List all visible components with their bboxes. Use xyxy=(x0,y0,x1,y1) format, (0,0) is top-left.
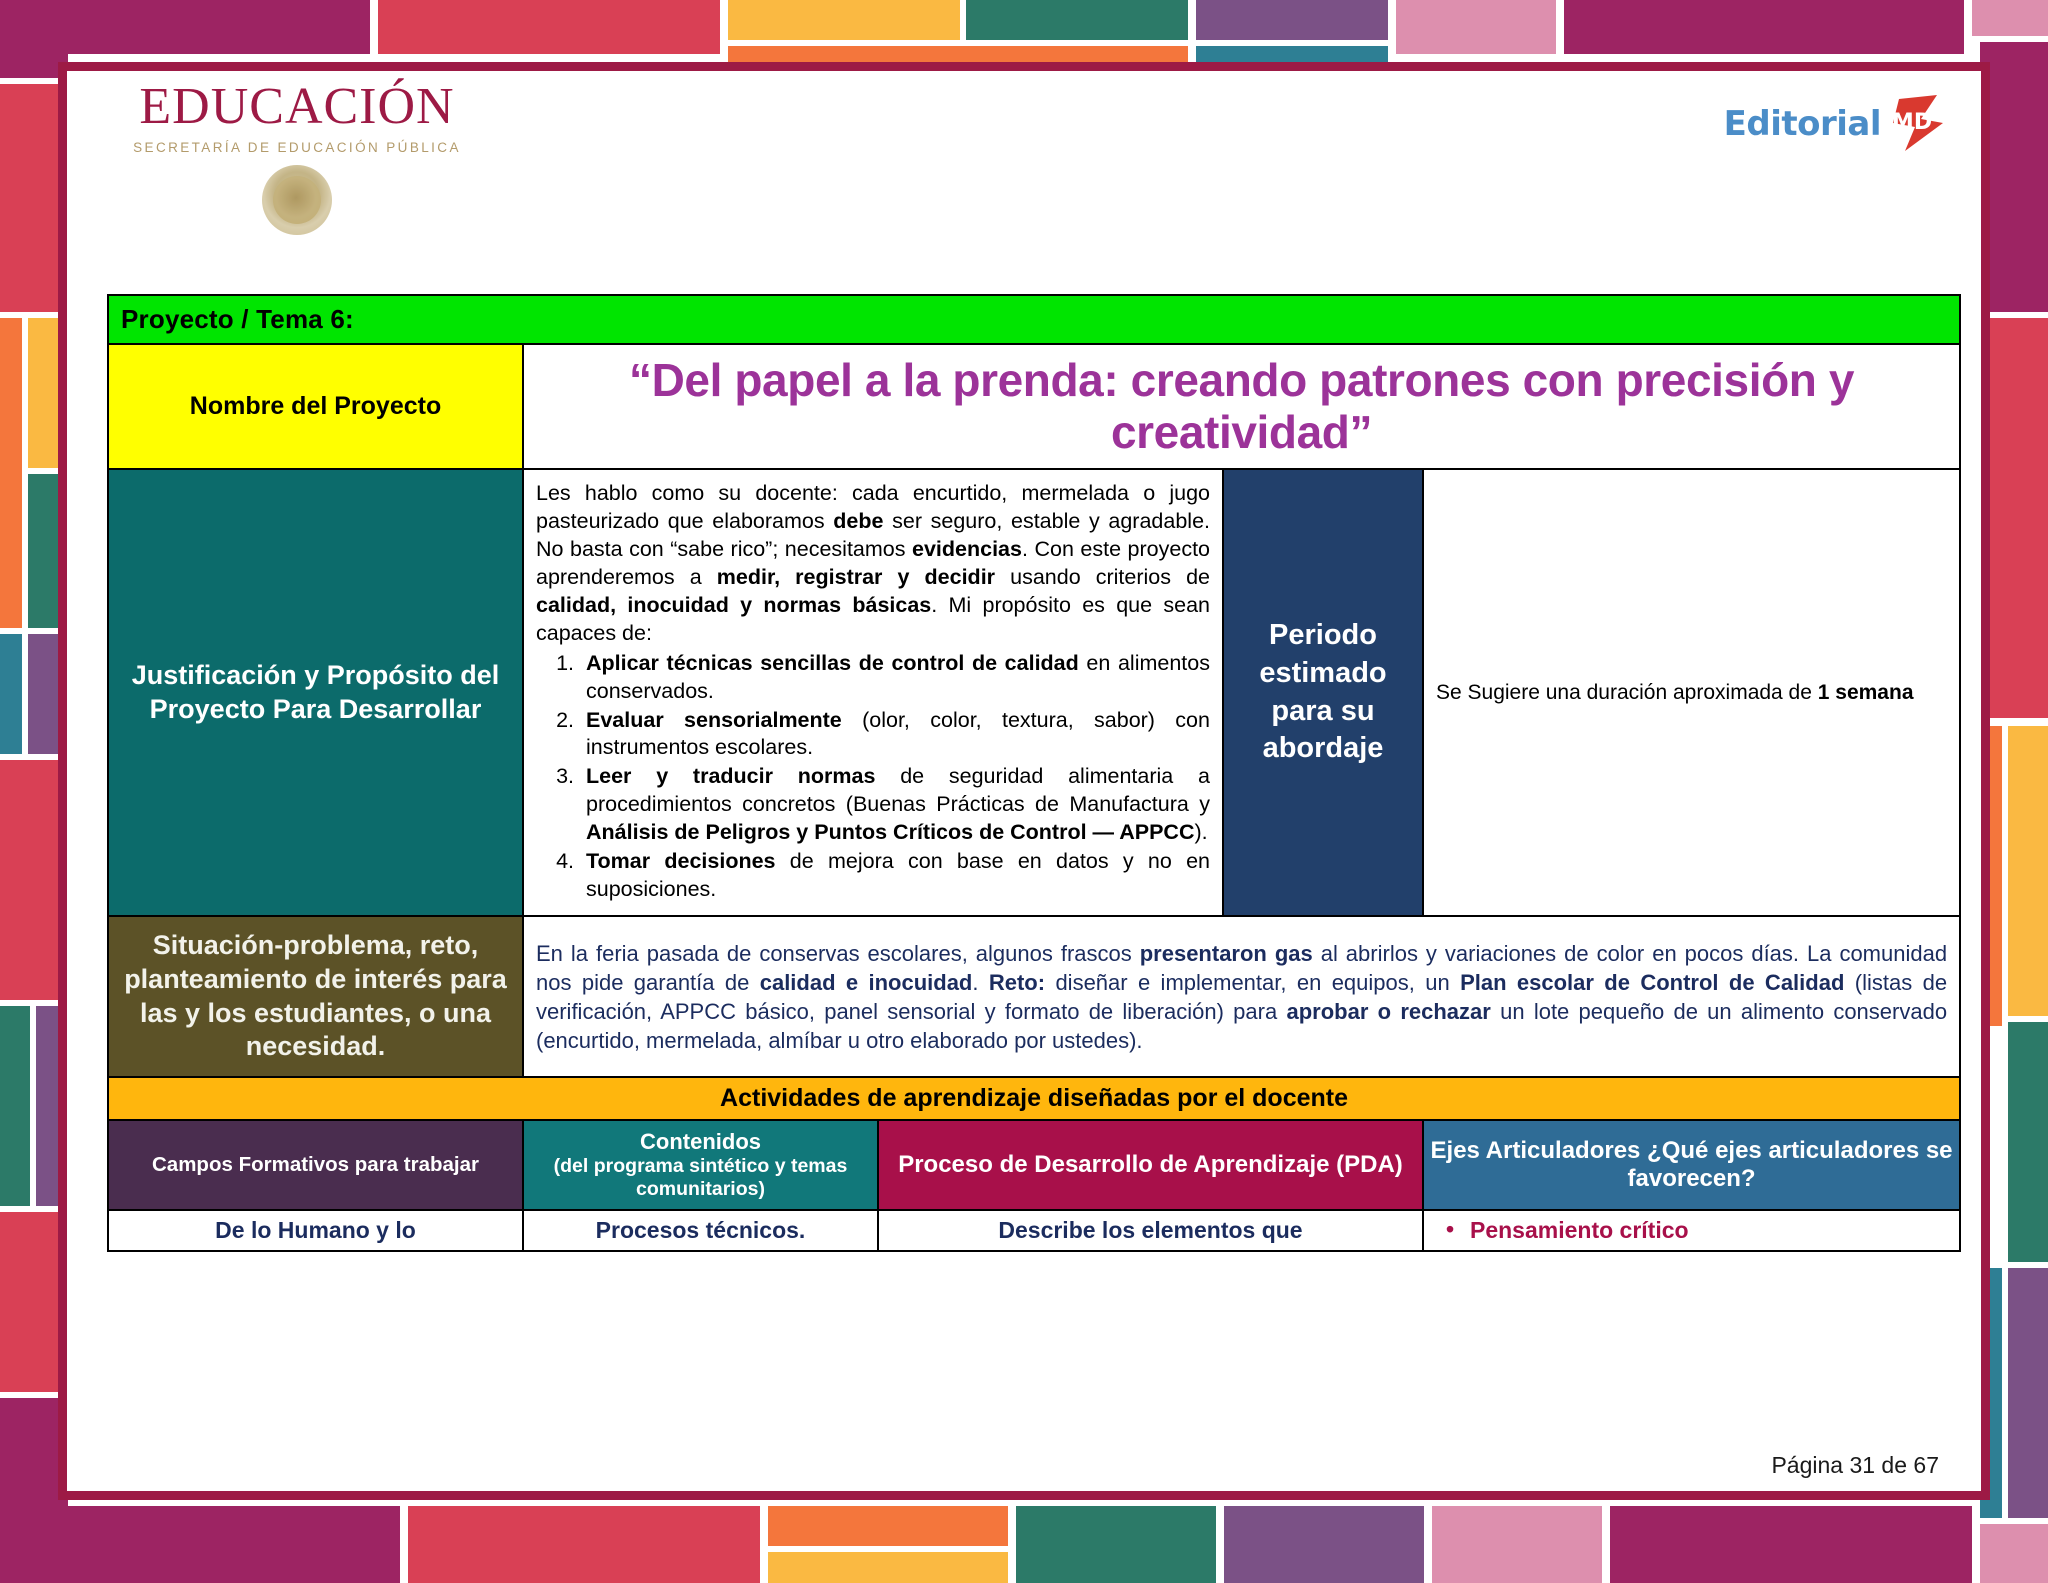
mosaic-block xyxy=(408,1506,760,1583)
list-item: Aplicar técnicas sencillas de control de… xyxy=(580,650,1210,706)
activities-bar: Actividades de aprendizaje diseñadas por… xyxy=(108,1077,1960,1120)
column-header-pda: Proceso de Desarrollo de Aprendizaje (PD… xyxy=(878,1120,1423,1210)
mosaic-block xyxy=(0,0,370,54)
mosaic-block xyxy=(768,1506,1008,1546)
column-header-ejes: Ejes Articuladores ¿Qué ejes articulador… xyxy=(1423,1120,1960,1210)
table-row-justification: Justificación y Propósito del Proyecto P… xyxy=(108,469,1960,916)
mosaic-block xyxy=(1224,1506,1424,1583)
mosaic-block xyxy=(728,0,960,40)
table-row-project-header: Proyecto / Tema 6: xyxy=(108,295,1960,344)
mosaic-block xyxy=(2008,726,2048,1016)
mosaic-block xyxy=(2008,1022,2048,1262)
mosaic-block xyxy=(1972,0,2048,36)
column-header-campos: Campos Formativos para trabajar xyxy=(108,1120,523,1210)
cell-eje-articulador: Pensamiento crítico xyxy=(1423,1210,1960,1251)
cell-campo-formativo: De lo Humano y lo xyxy=(108,1210,523,1251)
mosaic-block xyxy=(0,318,22,628)
mosaic-block xyxy=(1564,0,1964,54)
svg-text:MD: MD xyxy=(1892,110,1932,135)
situation-label: Situación-problema, reto, planteamiento … xyxy=(108,916,523,1077)
editorial-md-wordmark: Editorial xyxy=(1724,104,1881,144)
sep-logo-subtitle: SECRETARÍA DE EDUCACIÓN PÚBLICA xyxy=(87,140,507,155)
project-table: Proyecto / Tema 6: Nombre del Proyecto “… xyxy=(107,294,1961,1252)
justification-content: Les hablo como su docente: cada encurtid… xyxy=(523,469,1223,916)
list-item: Evaluar sensorialmente (olor, color, tex… xyxy=(580,707,1210,763)
table-row-activities-bar: Actividades de aprendizaje diseñadas por… xyxy=(108,1077,1960,1120)
justification-list: Aplicar técnicas sencillas de control de… xyxy=(580,650,1210,904)
mosaic-block xyxy=(1980,318,2048,718)
editorial-md-logo: Editorial MD xyxy=(1724,93,1947,155)
mosaic-block xyxy=(0,1506,400,1583)
mosaic-block xyxy=(768,1552,1008,1583)
justification-label: Justificación y Propósito del Proyecto P… xyxy=(108,469,523,916)
sep-logo-wordmark: EDUCACIÓN xyxy=(87,81,507,133)
table-row: De lo Humano y lo Procesos técnicos. Des… xyxy=(108,1210,1960,1251)
project-title: “Del papel a la prenda: creando patrones… xyxy=(523,344,1960,469)
mosaic-block xyxy=(1610,1506,1972,1583)
mosaic-block xyxy=(378,0,720,54)
page-sheet: EDUCACIÓN SECRETARÍA DE EDUCACIÓN PÚBLIC… xyxy=(58,62,1990,1500)
project-header-cell: Proyecto / Tema 6: xyxy=(108,295,1960,344)
mosaic-block xyxy=(0,634,22,754)
cell-contenido: Procesos técnicos. xyxy=(523,1210,878,1251)
mosaic-block xyxy=(1016,1506,1216,1583)
column-header-contenidos-subtitle: (del programa sintético y temas comunita… xyxy=(530,1155,871,1201)
mosaic-block xyxy=(1196,0,1388,40)
column-header-contenidos: Contenidos (del programa sintético y tem… xyxy=(523,1120,878,1210)
cell-pda: Describe los elementos que xyxy=(878,1210,1423,1251)
mosaic-block xyxy=(2008,1268,2048,1518)
mosaic-block xyxy=(1980,1524,2048,1583)
page-number: Página 31 de 67 xyxy=(1771,1452,1939,1479)
table-row-situation: Situación-problema, reto, planteamiento … xyxy=(108,916,1960,1077)
period-label: Periodo estimado para su abordaje xyxy=(1223,469,1423,916)
period-value: Se Sugiere una duración aproximada de 1 … xyxy=(1423,469,1960,916)
list-item: Leer y traducir normas de seguridad alim… xyxy=(580,763,1210,847)
list-item: Tomar decisiones de mejora con base en d… xyxy=(580,848,1210,904)
mosaic-block xyxy=(966,0,1188,40)
page-header: EDUCACIÓN SECRETARÍA DE EDUCACIÓN PÚBLIC… xyxy=(67,71,1981,271)
mosaic-block xyxy=(0,1006,30,1206)
mosaic-block xyxy=(1396,0,1556,54)
mexican-coat-of-arms-icon xyxy=(262,165,332,235)
table-row-column-headers: Campos Formativos para trabajar Contenid… xyxy=(108,1120,1960,1210)
mosaic-block xyxy=(1980,42,2048,312)
md-play-mark-icon: MD xyxy=(1885,93,1947,155)
mosaic-block xyxy=(1432,1506,1602,1583)
justification-intro: Les hablo como su docente: cada encurtid… xyxy=(536,480,1210,648)
sep-logo: EDUCACIÓN SECRETARÍA DE EDUCACIÓN PÚBLIC… xyxy=(87,81,507,235)
column-header-contenidos-title: Contenidos xyxy=(640,1129,761,1154)
table-row-project-name: Nombre del Proyecto “Del papel a la pren… xyxy=(108,344,1960,469)
situation-text: En la feria pasada de conservas escolare… xyxy=(523,916,1960,1077)
project-name-label: Nombre del Proyecto xyxy=(108,344,523,469)
